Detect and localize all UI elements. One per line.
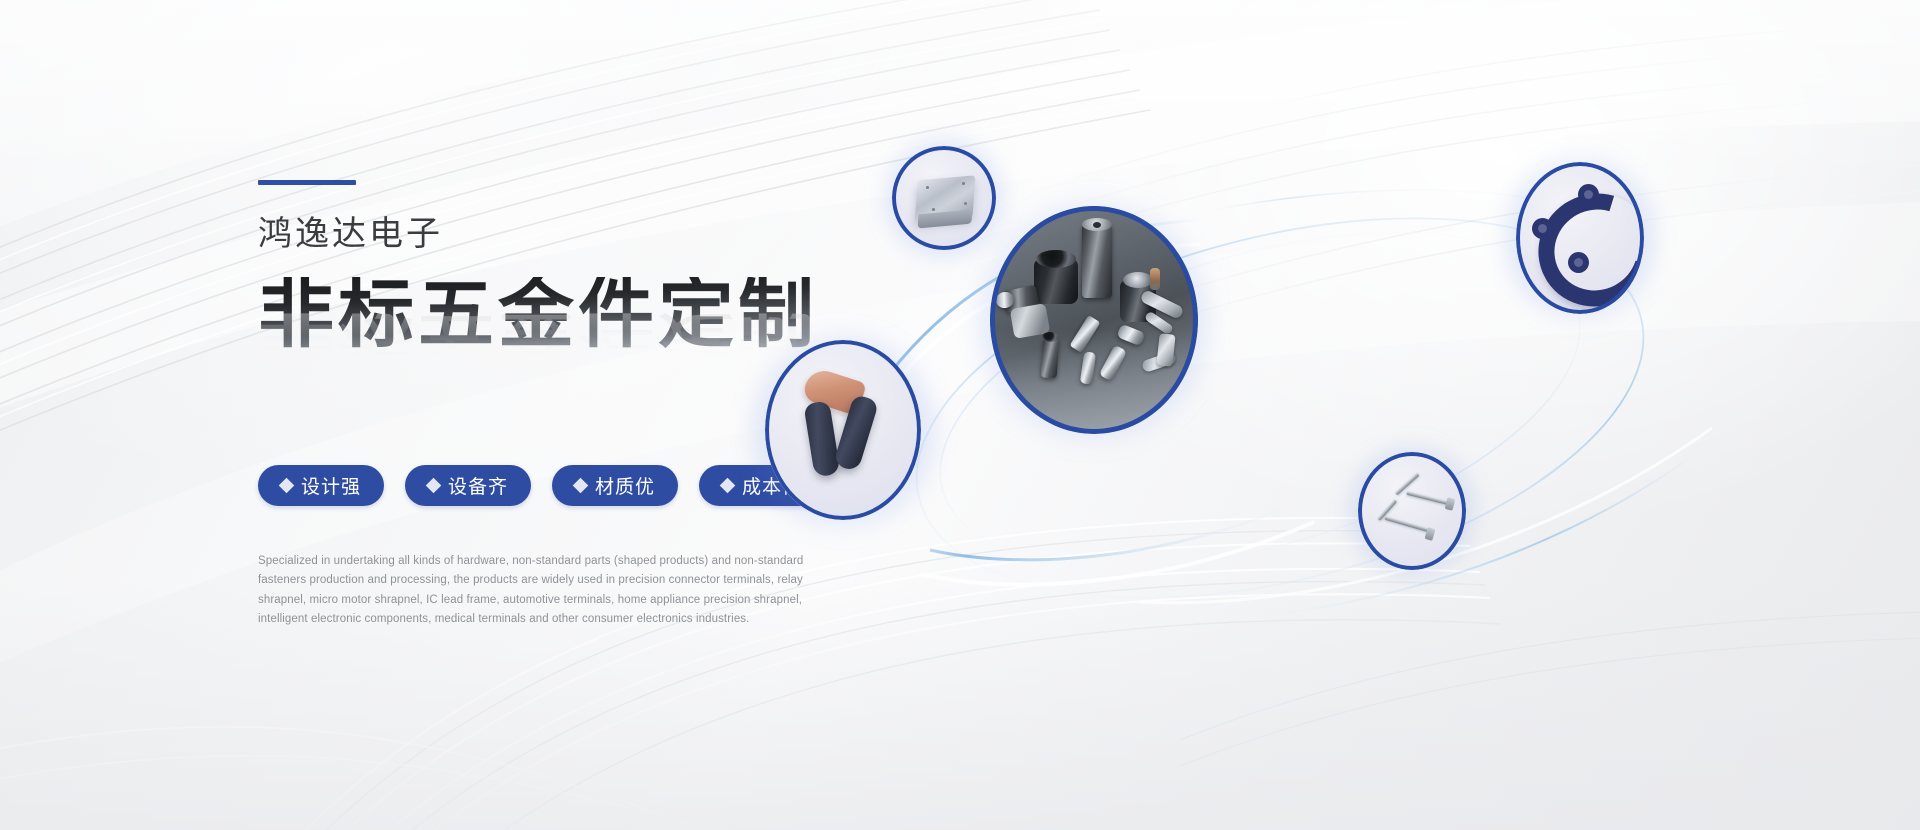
part-socket	[1041, 337, 1060, 378]
diamond-icon	[426, 478, 442, 494]
screw-icon	[932, 208, 935, 211]
clamp-handle-shape	[803, 400, 840, 477]
product-showcase: stamped-metal-enclosure-box copper-batte…	[900, 150, 1760, 670]
product-bubble-main[interactable]: precision-machined-metal-parts-group-pho…	[990, 206, 1198, 434]
feature-tag-label: 设计强	[301, 472, 361, 499]
hero-banner: 鸿逸达电子 非标五金件定制 非标五金件定制 设计强 设备齐 材质优 成本低	[0, 0, 1920, 830]
product-image-clamp	[765, 340, 921, 520]
product-bubble-box[interactable]: stamped-metal-enclosure-box	[892, 146, 996, 250]
company-name: 鸿逸达电子	[258, 217, 878, 251]
pin-tip	[1425, 527, 1436, 541]
diamond-icon	[720, 478, 736, 494]
pin-segment	[1384, 516, 1429, 533]
part-cylinder	[1082, 224, 1112, 298]
product-image-ring	[1516, 162, 1644, 314]
feature-tag-label: 材质优	[595, 472, 655, 499]
part-bushing-bore	[1123, 272, 1153, 288]
part-socket-bore	[1042, 332, 1058, 342]
part-bore	[1093, 222, 1101, 228]
product-bubble-pins[interactable]: bent-metal-pin-terminals	[1358, 452, 1466, 570]
c-ring-lug	[1532, 218, 1553, 239]
diamond-icon	[279, 478, 295, 494]
description-paragraph: Specialized in undertaking all kinds of …	[258, 552, 810, 629]
product-bubble-ring[interactable]: blue-c-shaped-retaining-ring	[1516, 162, 1644, 314]
part-bracket	[1156, 333, 1175, 366]
c-ring-lug	[1568, 252, 1589, 273]
accent-bar	[258, 180, 356, 185]
c-ring-lug	[1578, 184, 1599, 205]
screw-icon	[926, 186, 929, 189]
product-image-main	[990, 206, 1198, 434]
diamond-icon	[573, 478, 589, 494]
product-image-box	[892, 146, 996, 250]
part-bushing-bore	[1036, 250, 1076, 268]
pin-segment	[1406, 491, 1450, 506]
pin-tip	[1445, 497, 1456, 511]
screw-icon	[962, 182, 965, 185]
product-bubble-clamp[interactable]: copper-battery-clamp-with-black-handles	[765, 340, 921, 520]
feature-tag-equipment[interactable]: 设备齐	[405, 465, 531, 506]
page-title: 非标五金件定制	[258, 277, 818, 353]
screw-icon	[964, 202, 967, 205]
product-image-pins	[1358, 452, 1466, 570]
feature-tag-label: 设备齐	[448, 472, 508, 499]
feature-tag-design[interactable]: 设计强	[258, 465, 384, 506]
part-copper-pin	[1150, 268, 1160, 290]
feature-tag-material[interactable]: 材质优	[552, 465, 678, 506]
